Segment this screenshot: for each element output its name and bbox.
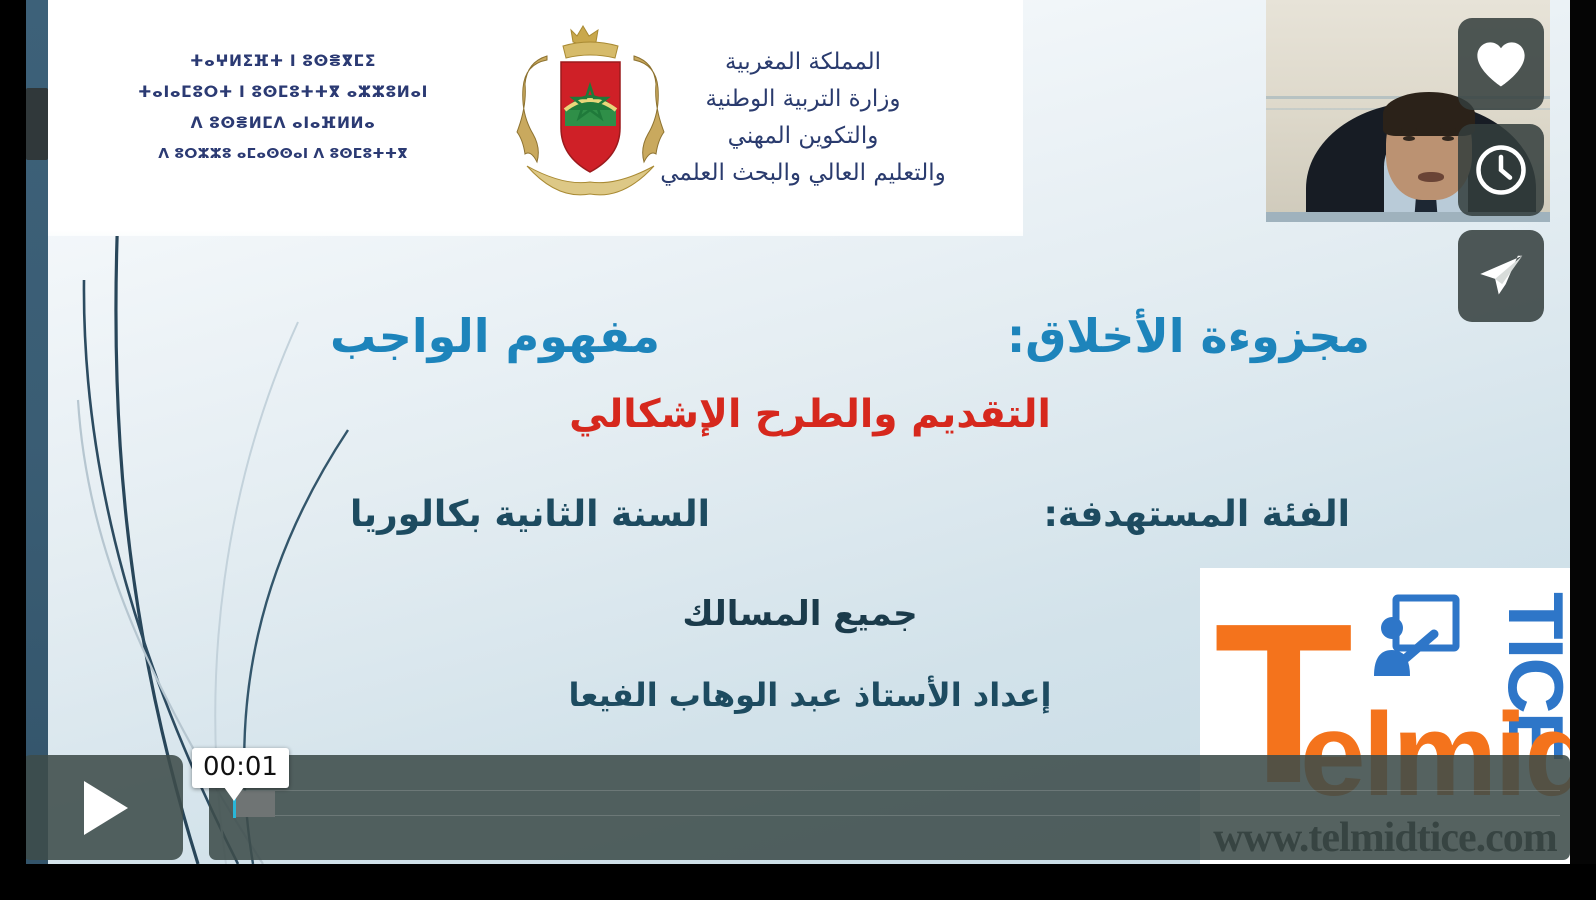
target-audience-label: الفئة المستهدفة: xyxy=(1013,494,1350,535)
letterbox-bottom xyxy=(0,864,1596,900)
slide-title-label: مجزوءة الأخلاق: xyxy=(967,306,1370,366)
share-button[interactable] xyxy=(1458,230,1544,322)
letterbox-left xyxy=(0,0,26,900)
slide-title-value: مفهوم الواجب xyxy=(330,306,700,366)
speaker-mouth xyxy=(1418,172,1444,182)
slide-subtitle: التقديم والطرح الإشكالي xyxy=(470,392,1150,437)
watch-later-button[interactable] xyxy=(1458,124,1544,216)
clock-icon xyxy=(1474,143,1528,197)
slide-title: مجزوءة الأخلاق: مفهوم الواجب xyxy=(330,306,1370,366)
teacher-blackboard-icon xyxy=(1366,594,1460,686)
author-credit: إعداد الأستاذ عبد الوهاب الفيعا xyxy=(450,676,1170,714)
target-audience-row: الفئة المستهدفة: السنة الثانية بكالوريا xyxy=(350,494,1350,535)
play-button[interactable] xyxy=(20,755,183,860)
left-rail-chip xyxy=(26,88,48,160)
speaker-brow-left xyxy=(1401,128,1417,132)
speaker-eye-right xyxy=(1442,136,1454,141)
video-player-stage: ⵜⴰⵖⵍⵉⴼⵜ ⵏ ⵓⵙⴻⴳⵎⵉ ⵜⴰⵏⴰⵎⵓⵔⵜ ⵏ ⵓⵙⵎⵓⵜⵜⴳ ⴰⵣⵣⵓ… xyxy=(0,0,1596,900)
paper-plane-icon xyxy=(1474,249,1528,303)
tracks-text: جميع المسالك xyxy=(590,594,1010,634)
letterbox-right xyxy=(1570,0,1596,900)
speaker-eye-left xyxy=(1403,136,1415,141)
progress-track[interactable] xyxy=(233,790,1560,816)
action-button-stack xyxy=(1458,18,1550,336)
speaker-brow-right xyxy=(1440,128,1456,132)
target-audience-value: السنة الثانية بكالوريا xyxy=(350,494,750,535)
favorite-button[interactable] xyxy=(1458,18,1544,110)
time-tooltip: 00:01 xyxy=(192,748,289,788)
progress-bar-panel[interactable] xyxy=(209,755,1570,860)
heart-icon xyxy=(1474,39,1528,89)
play-icon xyxy=(84,781,128,835)
